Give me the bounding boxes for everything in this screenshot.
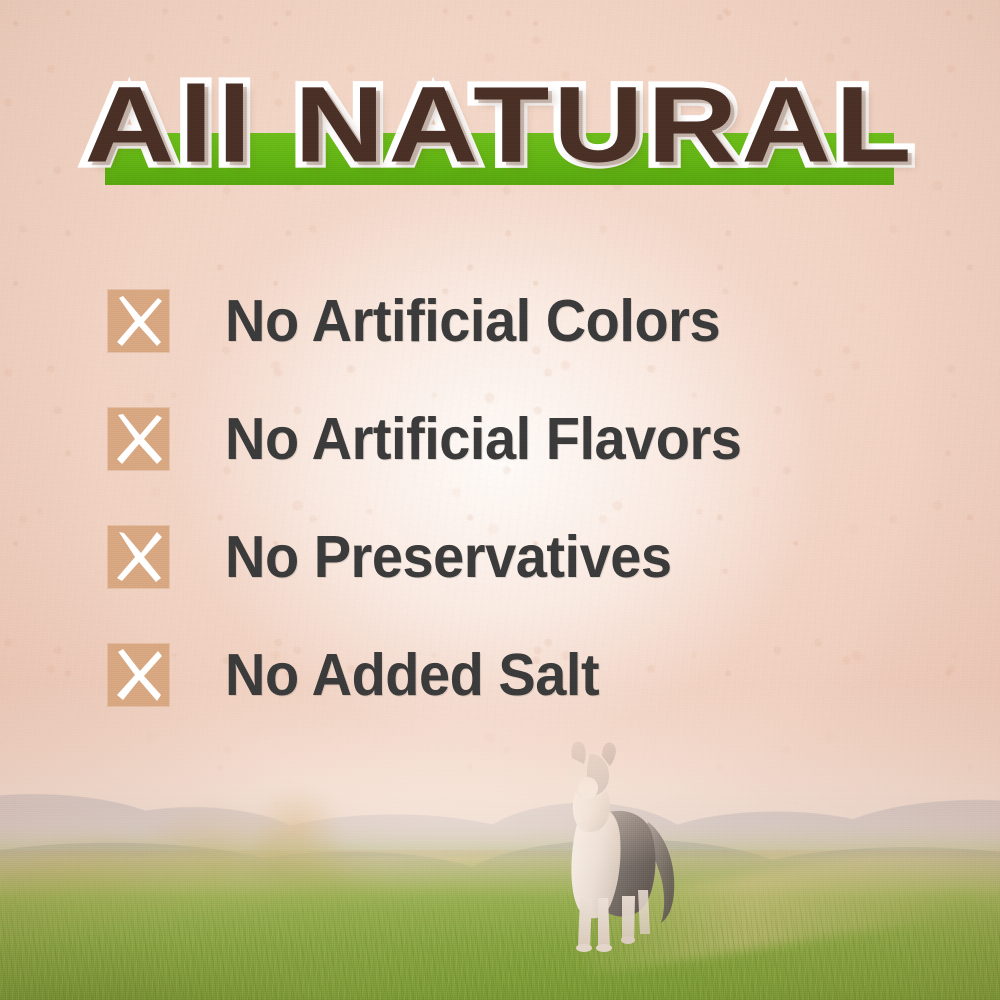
all-natural-poster: All NATURAL No Artificial Colors No Arti…: [0, 0, 1000, 1000]
feature-list: No Artificial Colors No Artificial Flavo…: [108, 262, 908, 734]
x-mark-icon: [108, 408, 169, 470]
list-item: No Preservatives: [108, 498, 908, 616]
list-item: No Added Salt: [108, 616, 908, 734]
list-item-label: No Preservatives: [225, 527, 672, 586]
list-item-label: No Artificial Flavors: [225, 409, 741, 468]
list-item-label: No Added Salt: [225, 645, 599, 704]
page-title: All NATURAL: [0, 72, 1000, 180]
list-item: No Artificial Flavors: [108, 380, 908, 498]
x-mark-icon: [108, 290, 169, 352]
x-mark-icon: [108, 644, 169, 706]
list-item-label: No Artificial Colors: [225, 291, 720, 350]
list-item: No Artificial Colors: [108, 262, 908, 380]
x-mark-icon: [108, 526, 169, 588]
